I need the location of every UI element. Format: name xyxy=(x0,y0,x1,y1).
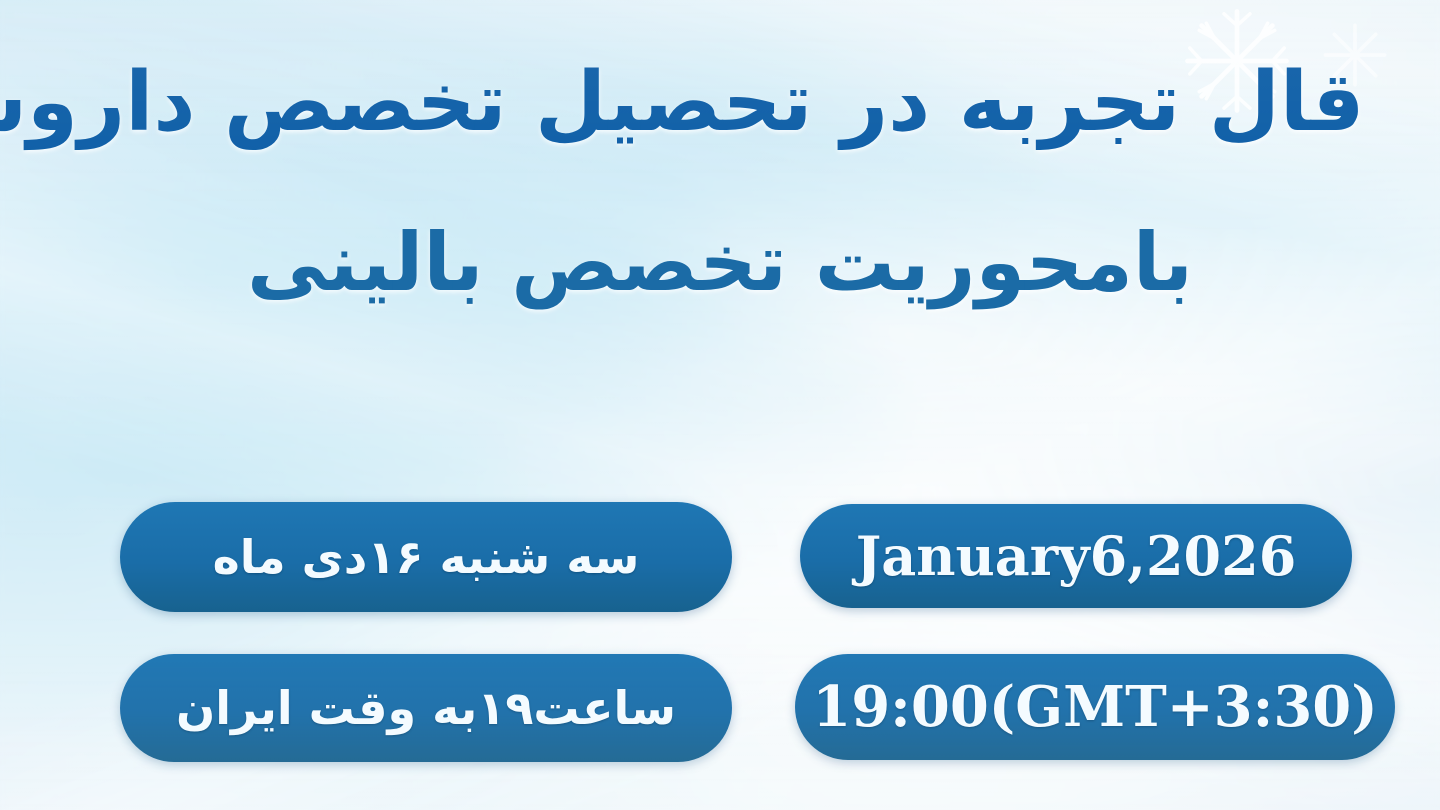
pill-date-english: January6,2026 xyxy=(800,504,1352,608)
pill-date-persian-label: سه شنبه ۱۶دی ماه xyxy=(213,530,640,584)
webinar-banner: قال تجربه در تحصیل تخصص داروسا بامحوریت … xyxy=(0,0,1440,810)
pill-date-persian: سه شنبه ۱۶دی ماه xyxy=(120,502,732,612)
headline-line-1: قال تجربه در تحصیل تخصص داروسا xyxy=(0,60,1440,147)
pill-time-english: 19:00(GMT+3:30) xyxy=(795,654,1395,760)
event-details-pills: سه شنبه ۱۶دی ماه January6,2026 ساعت۱۹به … xyxy=(0,498,1440,778)
headline-line-2: بامحوریت تخصص بالینی xyxy=(0,221,1440,306)
pill-time-persian-label: ساعت۱۹به وقت ایران xyxy=(176,681,676,735)
pill-date-english-label: January6,2026 xyxy=(856,524,1297,588)
banner-headline: قال تجربه در تحصیل تخصص داروسا بامحوریت … xyxy=(0,60,1440,306)
pill-time-english-label: 19:00(GMT+3:30) xyxy=(812,674,1378,740)
pill-time-persian: ساعت۱۹به وقت ایران xyxy=(120,654,732,762)
